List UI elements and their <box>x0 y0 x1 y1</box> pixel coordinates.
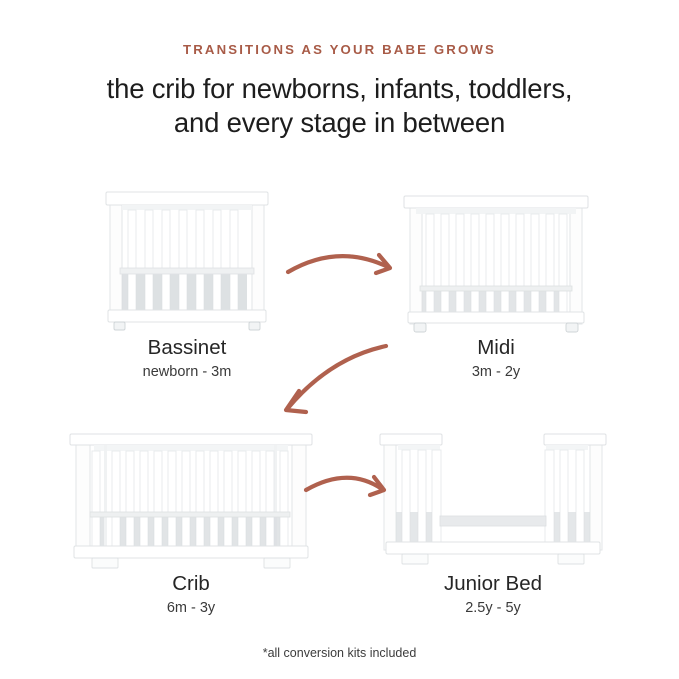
midi-age-range: 3m - 2y <box>396 362 596 382</box>
bassinet-caption: Bassinet newborn - 3m <box>92 336 282 382</box>
crib-caption: Crib 6m - 3y <box>60 572 322 618</box>
junior-bed-age-range: 2.5y - 5y <box>372 598 614 618</box>
bassinet-crib-icon <box>92 186 282 336</box>
junior-bed-title: Junior Bed <box>372 572 614 596</box>
junior-bed-caption: Junior Bed 2.5y - 5y <box>372 572 614 618</box>
product-grid: Bassinet newborn - 3m <box>0 0 679 679</box>
full-crib-icon <box>60 424 322 572</box>
midi-crib-icon <box>396 186 596 336</box>
footnote-text: *all conversion kits included <box>0 646 679 660</box>
crib-title: Crib <box>60 572 322 596</box>
bassinet-age-range: newborn - 3m <box>92 362 282 382</box>
product-midi[interactable]: Midi 3m - 2y <box>396 186 596 382</box>
bassinet-title: Bassinet <box>92 336 282 360</box>
infographic-page: TRANSITIONS AS YOUR BABE GROWS the crib … <box>0 0 679 679</box>
product-bassinet[interactable]: Bassinet newborn - 3m <box>92 186 282 382</box>
midi-title: Midi <box>396 336 596 360</box>
midi-caption: Midi 3m - 2y <box>396 336 596 382</box>
junior-bed-icon <box>372 424 614 572</box>
crib-age-range: 6m - 3y <box>60 598 322 618</box>
product-junior-bed[interactable]: Junior Bed 2.5y - 5y <box>372 424 614 618</box>
product-crib[interactable]: Crib 6m - 3y <box>60 424 322 618</box>
